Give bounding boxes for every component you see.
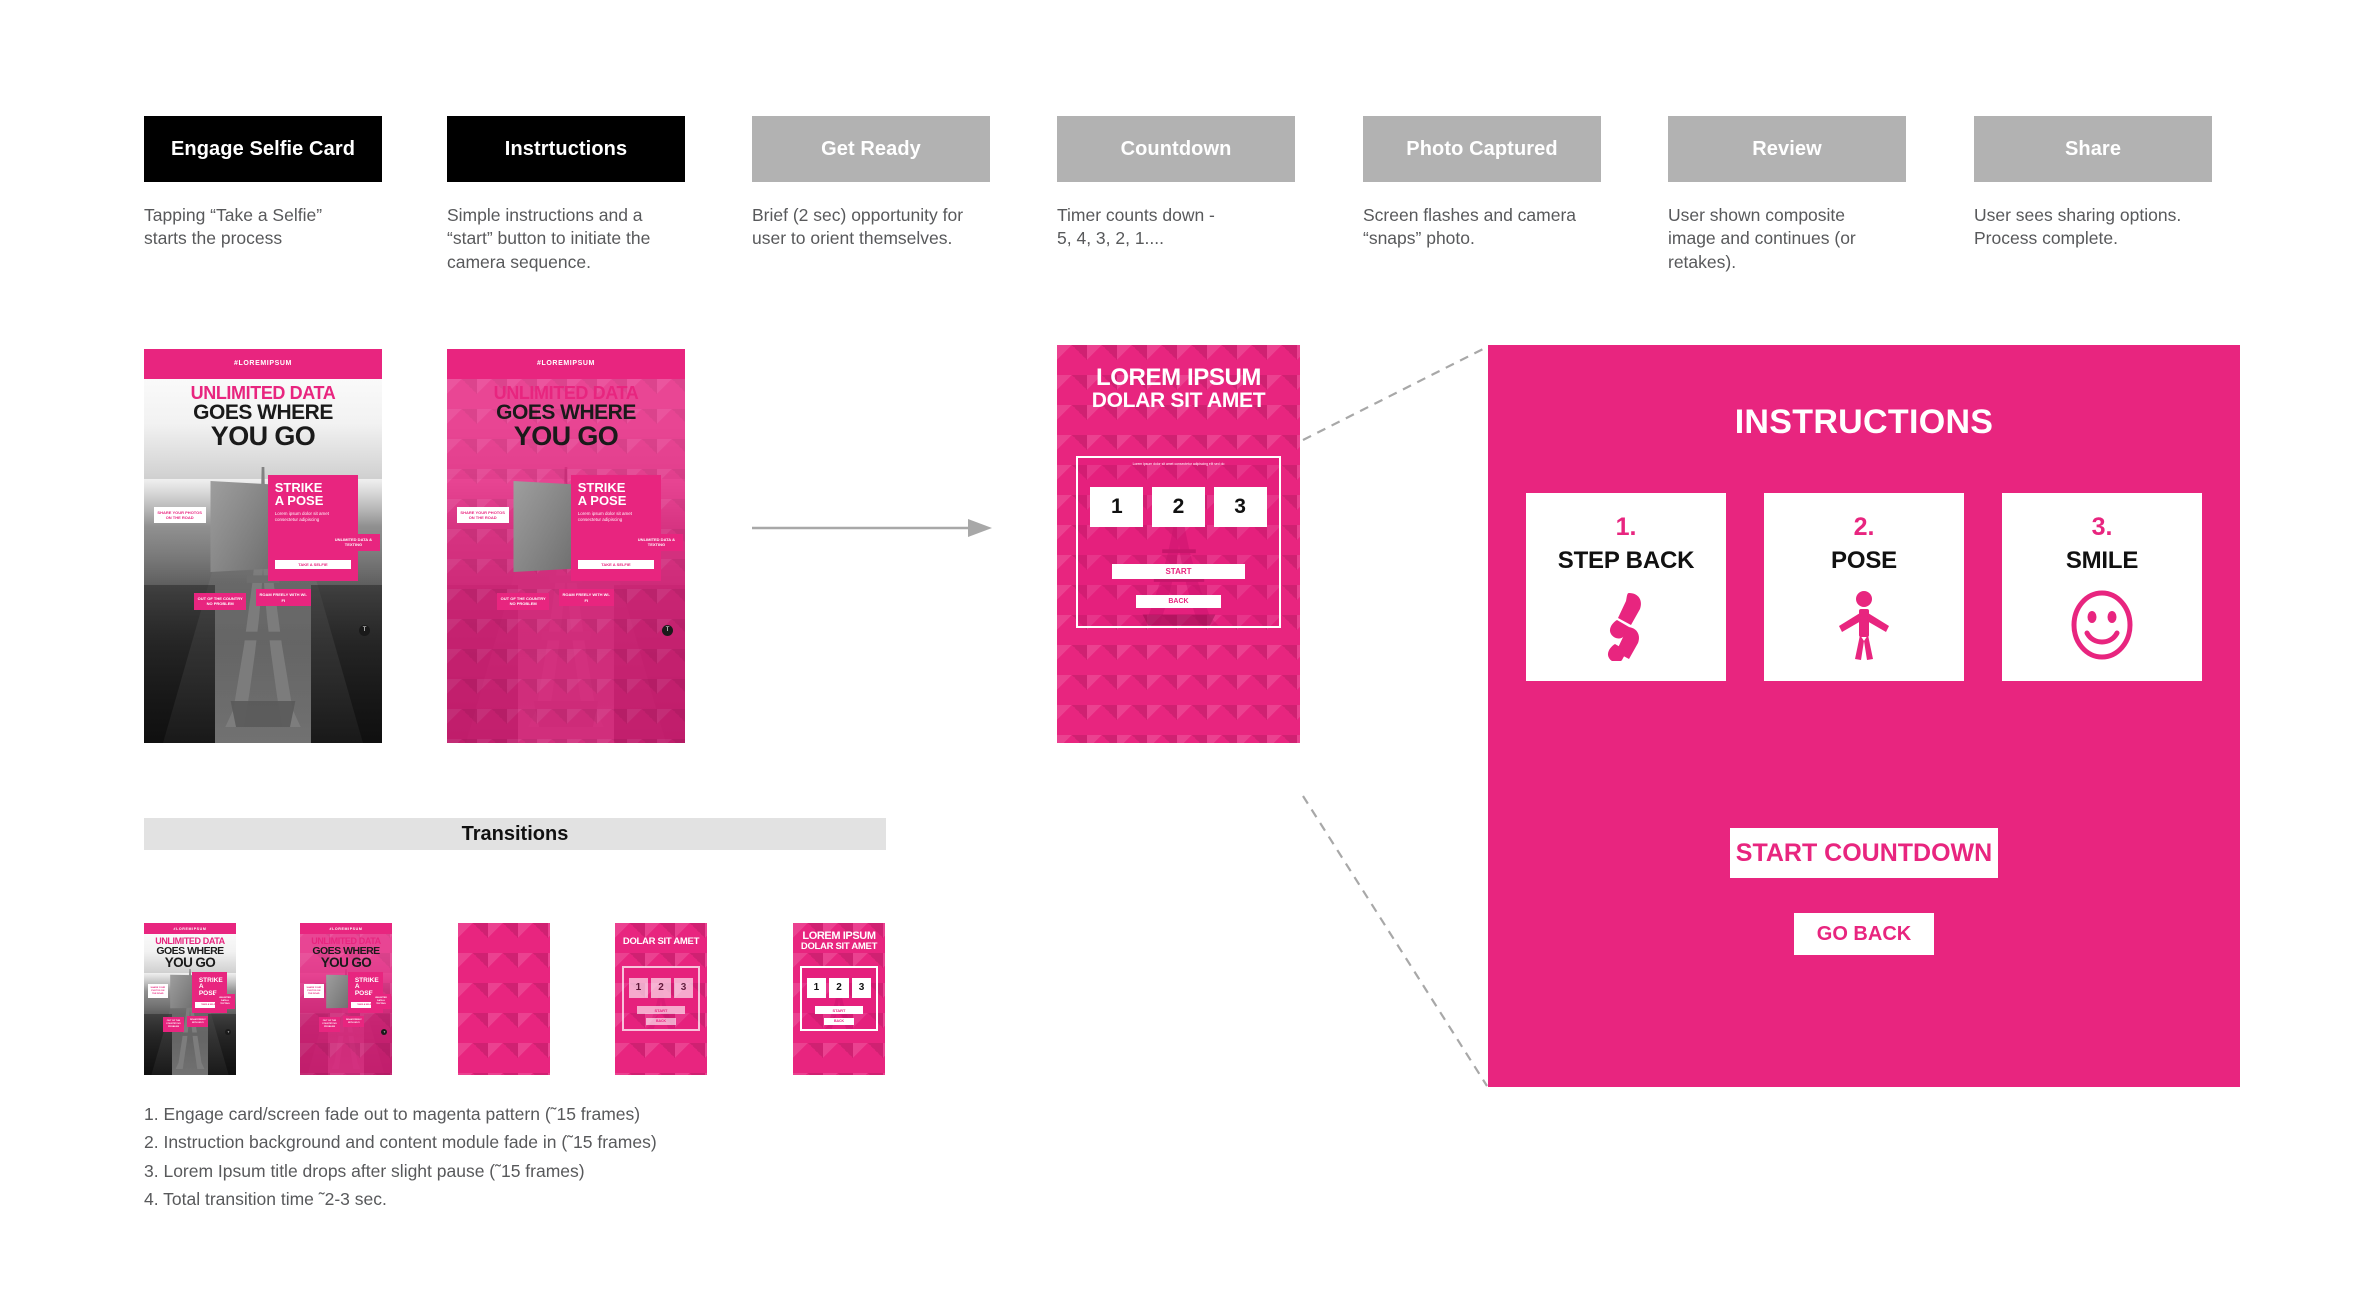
callout-out-of-country: OUT OF THE COUNTRY NO PROBLEM <box>163 1017 183 1032</box>
flow-arrow-icon <box>752 515 992 541</box>
instruction-card-smile: 3. SMILE <box>2002 493 2202 681</box>
countdown-number-row: 1 2 3 <box>629 978 694 998</box>
transition-note-1: 1. Engage card/screen fade out to magent… <box>144 1100 844 1128</box>
instruction-card-pose: 2. POSE <box>1764 493 1964 681</box>
stage-description: Timer counts down - 5, 4, 3, 2, 1.... <box>1057 204 1295 251</box>
stage-description: User shown composite image and continues… <box>1668 204 1906 274</box>
callout-share-photos: SHARE YOUR PHOTOS ON THE ROAD <box>304 984 324 999</box>
headline-line-1: UNLIMITED DATA <box>447 384 685 402</box>
headline-line-1: UNLIMITED DATA <box>144 384 382 402</box>
stage-engage-selfie-card: Engage Selfie Card Tapping “Take a Selfi… <box>144 116 382 251</box>
transition-note-3: 3. Lorem Ipsum title drops after slight … <box>144 1157 844 1185</box>
take-a-selfie-button[interactable]: TAKE A SELFIE <box>578 560 654 569</box>
smiley-face-icon <box>2066 589 2138 661</box>
strike-title-line-2: A POSE <box>578 494 655 507</box>
transition-thumbnail-countdown-partial: DOLAR SIT AMET 1 2 3 START BACK <box>615 923 707 1075</box>
brand-badge-icon: T <box>662 625 673 636</box>
countdown-number-3: 3 <box>674 978 693 998</box>
callout-unlimited-data: UNLIMITED DATA & TEXTING <box>327 534 379 550</box>
countdown-number-1: 1 <box>629 978 648 998</box>
instruction-number: 1. <box>1616 515 1637 540</box>
countdown-number-row: 1 2 3 <box>807 978 872 998</box>
start-countdown-button[interactable]: START COUNTDOWN <box>1730 828 1998 878</box>
countdown-number-1: 1 <box>1090 487 1143 527</box>
callout-out-of-country: OUT OF THE COUNTRY NO PROBLEM <box>497 593 549 609</box>
headline-line-3: YOU GO <box>144 423 382 450</box>
stage-chip-label: Photo Captured <box>1363 116 1601 182</box>
panel-title: INSTRUCTIONS <box>1488 403 2240 442</box>
instruction-card-row: 1. STEP BACK 2. POSE <box>1526 493 2202 681</box>
countdown-title-line-2: DOLAR SIT AMET <box>615 937 707 947</box>
trees-right <box>311 585 382 743</box>
headline-line-3: YOU GO <box>447 423 685 450</box>
stage-description: Tapping “Take a Selfie” starts the proce… <box>144 204 382 251</box>
stage-description: User sees sharing options. Process compl… <box>1974 204 2212 251</box>
headline-line-2: GOES WHERE <box>447 402 685 423</box>
headline-block: UNLIMITED DATA GOES WHERE YOU GO <box>447 384 685 450</box>
callout-roam-with-wifi: ROAM FREELY WITH WI-FI <box>343 1016 364 1028</box>
countdown-number-2: 2 <box>829 978 848 998</box>
countdown-number-row: 1 2 3 <box>1090 487 1266 527</box>
stage-chip-label: Share <box>1974 116 2212 182</box>
headline-line-2: GOES WHERE <box>144 402 382 423</box>
instruction-number: 3. <box>2092 515 2113 540</box>
headline-line-3: YOU GO <box>300 956 392 970</box>
hashtag-banner: #LOREMIPSUM <box>447 349 685 379</box>
start-button[interactable]: START <box>1112 564 1244 579</box>
transition-thumbnail-pattern-only <box>458 923 550 1075</box>
headline-line-3: YOU GO <box>144 956 236 970</box>
instructions-detail-panel: INSTRUCTIONS 1. STEP BACK <box>1488 345 2240 1087</box>
instruction-label: SMILE <box>2066 547 2138 575</box>
strike-body-text: Lorem ipsum dolor sit amet consectetur a… <box>275 511 352 523</box>
callout-out-of-country: OUT OF THE COUNTRY NO PROBLEM <box>319 1017 339 1032</box>
instruction-label: STEP BACK <box>1558 547 1694 575</box>
countdown-title-block: LOREM IPSUM DOLAR SIT AMET <box>1057 365 1300 412</box>
transitions-header-label: Transitions <box>462 823 569 846</box>
phone-mockup-countdown: LOREM IPSUM DOLAR SIT AMET Lorem ipsum d… <box>1057 345 1300 743</box>
headline-block: UNLIMITED DATA GOES WHERE YOU GO <box>144 937 236 970</box>
headline-block: UNLIMITED DATA GOES WHERE YOU GO <box>144 384 382 450</box>
callout-out-of-country: OUT OF THE COUNTRY NO PROBLEM <box>194 593 246 609</box>
countdown-content-module: Lorem ipsum dolor sit amet consectetur a… <box>1076 456 1280 627</box>
strike-title-line-2: A POSE <box>275 494 352 507</box>
triangle-pattern-background <box>458 923 550 1075</box>
storyboard-canvas: Engage Selfie Card Tapping “Take a Selfi… <box>0 0 2376 1310</box>
callout-share-photos: SHARE YOUR PHOTOS ON THE ROAD <box>148 984 168 999</box>
stage-description: Simple instructions and a “start” button… <box>447 204 685 274</box>
phone-mockup-engage-card: #LOREMIPSUM UNLIMITED DATA GOES WHERE YO… <box>144 349 382 743</box>
stage-review: Review User shown composite image and co… <box>1668 116 1906 274</box>
callout-unlimited-data: UNLIMITED DATA & TEXTING <box>630 534 682 550</box>
transition-thumbnail-countdown-full: LOREM IPSUM DOLAR SIT AMET 1 2 3 START B… <box>793 923 885 1075</box>
countdown-number-1: 1 <box>807 978 826 998</box>
stage-get-ready: Get Ready Brief (2 sec) opportunity for … <box>752 116 990 251</box>
instruction-number: 2. <box>1854 515 1875 540</box>
transition-notes-list: 1. Engage card/screen fade out to magent… <box>144 1100 844 1213</box>
countdown-number-3: 3 <box>1214 487 1267 527</box>
callout-share-photos: SHARE YOUR PHOTOS ON THE ROAD <box>457 507 509 523</box>
phone-mockup-instructions-fade: #LOREMIPSUM UNLIMITED DATA GOES WHERE YO… <box>447 349 685 743</box>
brand-badge-icon: T <box>359 625 370 636</box>
stage-photo-captured: Photo Captured Screen flashes and camera… <box>1363 116 1601 251</box>
start-button: START <box>637 1006 685 1014</box>
callout-unlimited-data: UNLIMITED DATA & TEXTING <box>371 994 391 1009</box>
trees-right <box>208 1014 236 1075</box>
standing-person-icon <box>1828 589 1900 661</box>
countdown-title-block: DOLAR SIT AMET <box>615 937 707 947</box>
countdown-title-line-1: LOREM IPSUM <box>1057 365 1300 390</box>
stage-chip-label: Countdown <box>1057 116 1295 182</box>
back-button[interactable]: BACK <box>1136 595 1220 608</box>
stage-chip-label: Get Ready <box>752 116 990 182</box>
instruction-card-step-back: 1. STEP BACK <box>1526 493 1726 681</box>
countdown-title-block: LOREM IPSUM DOLAR SIT AMET <box>793 931 885 953</box>
callout-roam-with-wifi: ROAM FREELY WITH WI-FI <box>256 589 311 605</box>
instruction-label: POSE <box>1831 547 1897 575</box>
callout-share-photos: SHARE YOUR PHOTOS ON THE ROAD <box>154 507 206 523</box>
hashtag-banner: #LOREMIPSUM <box>144 349 382 379</box>
hashtag-banner: #LOREMIPSUM <box>300 923 392 934</box>
callout-unlimited-data: UNLIMITED DATA & TEXTING <box>215 994 235 1009</box>
countdown-content-module: 1 2 3 START BACK <box>800 966 877 1031</box>
callout-roam-with-wifi: ROAM FREELY WITH WI-FI <box>559 589 614 605</box>
strike-body-text: Lorem ipsum dolor sit amet consectetur a… <box>578 511 655 523</box>
countdown-number-2: 2 <box>1152 487 1205 527</box>
go-back-button[interactable]: GO BACK <box>1794 913 1934 955</box>
countdown-number-3: 3 <box>852 978 871 998</box>
start-button: START <box>815 1006 863 1014</box>
strike-a-pose-card: STRIKE A POSE Lorem ipsum dolor sit amet… <box>268 475 358 581</box>
countdown-number-2: 2 <box>651 978 670 998</box>
hashtag-banner: #LOREMIPSUM <box>144 923 236 934</box>
stage-chip-label: Engage Selfie Card <box>144 116 382 182</box>
strike-a-pose-card: STRIKE A POSE Lorem ipsum dolor sit amet… <box>571 475 661 581</box>
transition-thumbnail-engage-bw: #LOREMIPSUM UNLIMITED DATA GOES WHERE YO… <box>144 923 236 1075</box>
module-caption: Lorem ipsum dolor sit amet consectetur a… <box>1086 462 1270 466</box>
stage-countdown: Countdown Timer counts down - 5, 4, 3, 2… <box>1057 116 1295 251</box>
stage-description: Brief (2 sec) opportunity for user to or… <box>752 204 990 251</box>
stage-share: Share User sees sharing options. Process… <box>1974 116 2212 251</box>
transitions-header-bar: Transitions <box>144 818 886 850</box>
countdown-title-line-2: DOLAR SIT AMET <box>793 942 885 952</box>
countdown-content-module: 1 2 3 START BACK <box>622 966 699 1031</box>
transition-note-2: 2. Instruction background and content mo… <box>144 1128 844 1156</box>
footprints-icon <box>1590 589 1662 661</box>
countdown-title-line-2: DOLAR SIT AMET <box>1057 390 1300 412</box>
stage-description: Screen flashes and camera “snaps” photo. <box>1363 204 1601 251</box>
headline-block: UNLIMITED DATA GOES WHERE YOU GO <box>300 937 392 970</box>
transition-thumbnail-engage-pink: #LOREMIPSUM UNLIMITED DATA GOES WHERE YO… <box>300 923 392 1075</box>
take-a-selfie-button[interactable]: TAKE A SELFIE <box>275 560 351 569</box>
transition-note-4: 4. Total transition time ˜2-3 sec. <box>144 1185 844 1213</box>
stage-instructions: Instrtuctions Simple instructions and a … <box>447 116 685 274</box>
stage-chip-label: Review <box>1668 116 1906 182</box>
back-button: BACK <box>646 1018 677 1025</box>
stage-chip-label: Instrtuctions <box>447 116 685 182</box>
callout-roam-with-wifi: ROAM FREELY WITH WI-FI <box>187 1016 208 1028</box>
back-button: BACK <box>824 1018 855 1025</box>
